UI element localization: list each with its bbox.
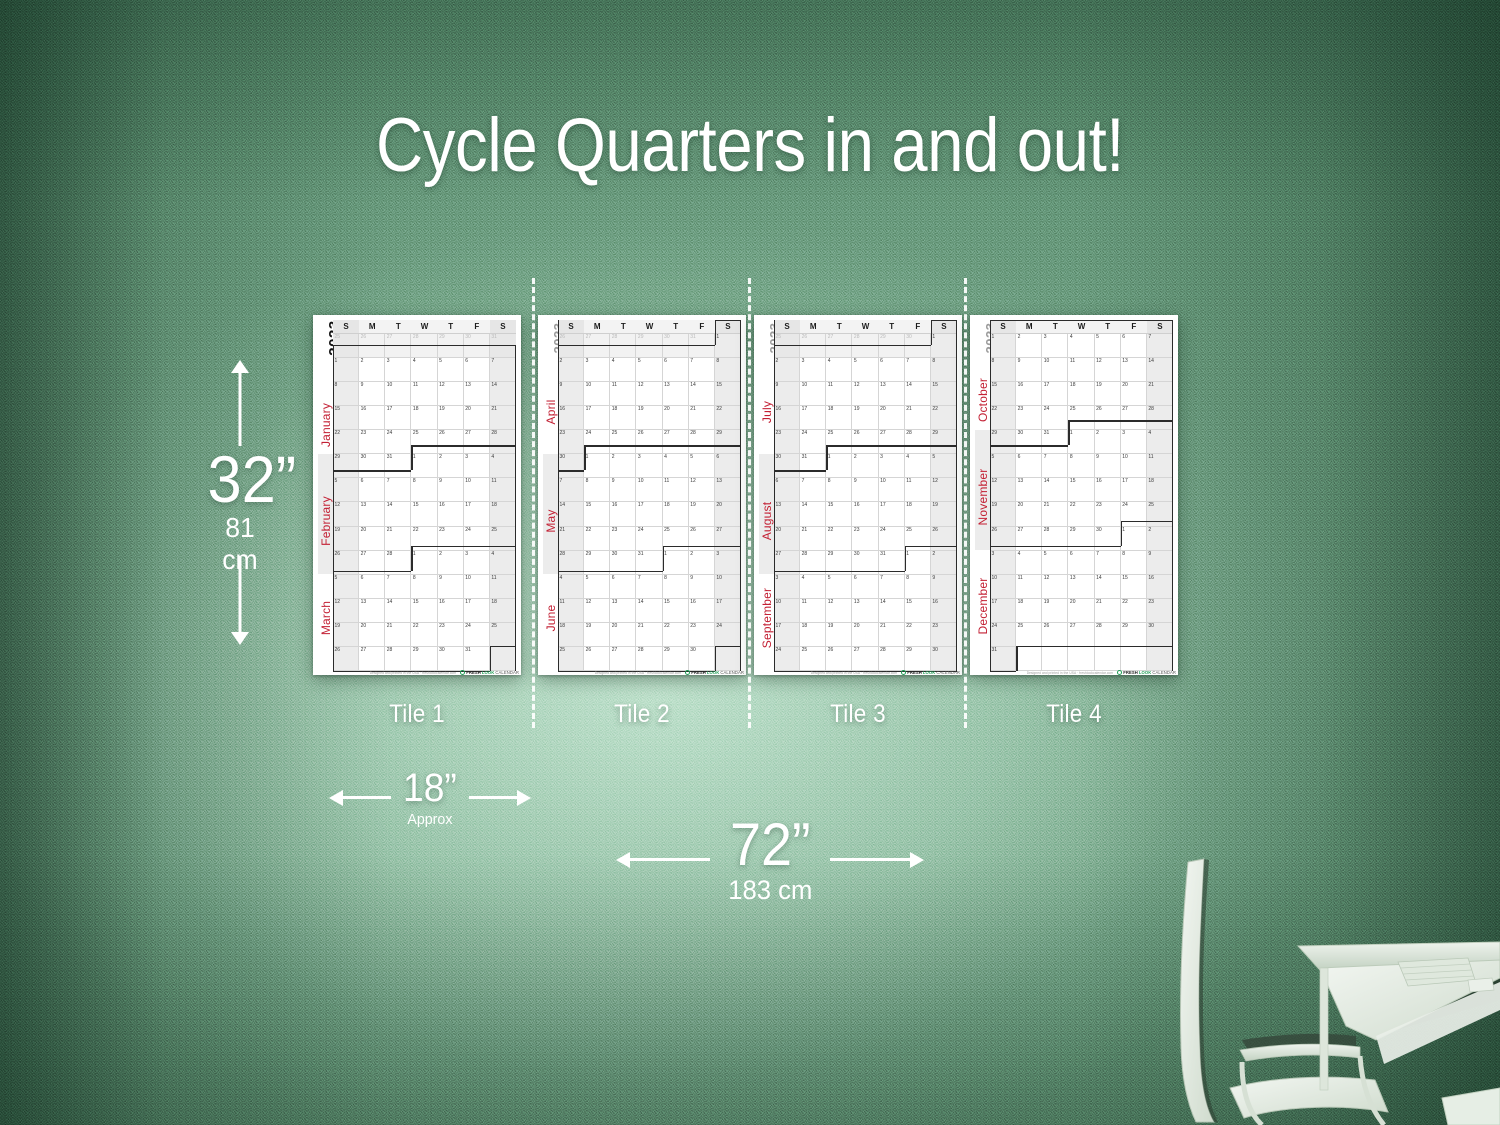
calendar-day-cell[interactable]: 13	[852, 599, 878, 623]
calendar-day-cell[interactable]: 14	[879, 599, 905, 623]
calendar-day-cell[interactable]: 11	[1068, 358, 1094, 382]
calendar-day-cell[interactable]: 16	[1095, 478, 1121, 502]
calendar-day-cell[interactable]: 19	[852, 406, 878, 430]
calendar-day-cell[interactable]: 29	[333, 454, 359, 478]
calendar-day-cell[interactable]: 8	[411, 575, 437, 599]
calendar-day-cell[interactable]: 4	[800, 575, 826, 599]
calendar-day-cell[interactable]: 25	[610, 430, 636, 454]
calendar-day-cell[interactable]: 22	[1121, 599, 1147, 623]
calendar-day-cell[interactable]: 2	[1016, 334, 1042, 358]
calendar-day-cell[interactable]: 13	[1016, 478, 1042, 502]
calendar-day-cell[interactable]: 18	[800, 623, 826, 647]
calendar-day-cell[interactable]: 23	[1016, 406, 1042, 430]
calendar-day-cell[interactable]: 23	[610, 527, 636, 551]
calendar-day-cell[interactable]: 20	[715, 502, 741, 526]
calendar-day-cell[interactable]: 2	[852, 454, 878, 478]
calendar-day-cell[interactable]	[1016, 647, 1042, 671]
calendar-day-cell[interactable]: 26	[852, 430, 878, 454]
calendar-tile[interactable]: 2023JulyAugustSeptemberSMTWTFS2526272829…	[754, 315, 962, 675]
calendar-day-cell[interactable]: 3	[1042, 334, 1068, 358]
calendar-day-cell[interactable]: 30	[689, 647, 715, 671]
calendar-day-cell[interactable]: 1	[411, 551, 437, 575]
calendar-day-cell[interactable]: 25	[774, 334, 800, 358]
calendar-day-cell[interactable]: 10	[774, 599, 800, 623]
calendar-day-cell[interactable]: 11	[1016, 575, 1042, 599]
calendar-day-cell[interactable]: 7	[558, 478, 584, 502]
calendar-day-cell[interactable]: 25	[800, 647, 826, 671]
calendar-day-cell[interactable]: 1	[333, 358, 359, 382]
calendar-day-cell[interactable]: 26	[333, 551, 359, 575]
calendar-day-cell[interactable]: 2	[610, 454, 636, 478]
calendar-day-cell[interactable]: 18	[490, 502, 516, 526]
calendar-day-cell[interactable]: 24	[464, 527, 490, 551]
calendar-day-cell[interactable]: 21	[385, 527, 411, 551]
calendar-day-cell[interactable]: 17	[1042, 382, 1068, 406]
calendar-day-cell[interactable]: 10	[584, 382, 610, 406]
calendar-day-cell[interactable]: 9	[558, 382, 584, 406]
calendar-day-cell[interactable]: 3	[800, 358, 826, 382]
calendar-day-cell[interactable]: 19	[689, 502, 715, 526]
calendar-day-cell[interactable]: 24	[385, 430, 411, 454]
calendar-day-cell[interactable]: 11	[905, 478, 931, 502]
calendar-day-cell[interactable]: 20	[1121, 382, 1147, 406]
calendar-day-cell[interactable]: 13	[774, 502, 800, 526]
calendar-day-cell[interactable]: 29	[879, 334, 905, 358]
calendar-day-cell[interactable]: 3	[464, 551, 490, 575]
calendar-day-cell[interactable]: 26	[826, 647, 852, 671]
calendar-day-cell[interactable]: 7	[1095, 551, 1121, 575]
calendar-day-cell[interactable]: 4	[558, 575, 584, 599]
calendar-day-cell[interactable]: 25	[490, 527, 516, 551]
calendar-day-cell[interactable]: 19	[333, 527, 359, 551]
calendar-day-cell[interactable]: 28	[490, 430, 516, 454]
calendar-day-cell[interactable]: 25	[1016, 623, 1042, 647]
calendar-day-cell[interactable]: 5	[333, 478, 359, 502]
calendar-day-cell[interactable]: 18	[490, 599, 516, 623]
calendar-day-cell[interactable]: 28	[636, 647, 662, 671]
calendar-day-cell[interactable]: 20	[1016, 502, 1042, 526]
calendar-day-cell[interactable]: 23	[438, 623, 464, 647]
calendar-day-cell[interactable]: 19	[636, 406, 662, 430]
calendar-day-cell[interactable]: 29	[411, 647, 437, 671]
calendar-day-cell[interactable]: 17	[464, 599, 490, 623]
calendar-day-cell[interactable]: 21	[689, 406, 715, 430]
calendar-day-cell[interactable]: 22	[411, 623, 437, 647]
calendar-tile[interactable]: 2023OctoberNovemberDecemberSMTWTFS123456…	[970, 315, 1178, 675]
calendar-day-cell[interactable]: 10	[464, 575, 490, 599]
calendar-day-cell[interactable]: 22	[1068, 502, 1094, 526]
calendar-day-cell[interactable]: 22	[826, 527, 852, 551]
calendar-day-cell[interactable]: 17	[800, 406, 826, 430]
calendar-day-cell[interactable]: 11	[558, 599, 584, 623]
calendar-day-cell[interactable]: 24	[1042, 406, 1068, 430]
calendar-day-cell[interactable]: 8	[826, 478, 852, 502]
calendar-day-cell[interactable]: 28	[905, 430, 931, 454]
calendar-day-cell[interactable]: 20	[879, 406, 905, 430]
calendar-day-cell[interactable]: 28	[385, 551, 411, 575]
calendar-day-cell[interactable]: 29	[715, 430, 741, 454]
calendar-day-cell[interactable]	[1068, 647, 1094, 671]
calendar-day-cell[interactable]: 27	[663, 430, 689, 454]
calendar-day-cell[interactable]: 30	[1147, 623, 1173, 647]
calendar-day-cell[interactable]: 16	[852, 502, 878, 526]
calendar-day-cell[interactable]: 9	[852, 478, 878, 502]
calendar-day-cell[interactable]: 6	[1121, 334, 1147, 358]
calendar-day-cell[interactable]: 13	[464, 382, 490, 406]
calendar-day-cell[interactable]: 29	[931, 430, 957, 454]
calendar-day-cell[interactable]: 9	[1095, 454, 1121, 478]
calendar-day-cell[interactable]: 11	[826, 382, 852, 406]
calendar-day-cell[interactable]: 15	[905, 599, 931, 623]
calendar-day-cell[interactable]: 22	[715, 406, 741, 430]
calendar-day-cell[interactable]: 12	[826, 599, 852, 623]
calendar-day-cell[interactable]: 7	[636, 575, 662, 599]
calendar-day-cell[interactable]: 30	[905, 334, 931, 358]
calendar-day-cell[interactable]: 7	[689, 358, 715, 382]
calendar-day-cell[interactable]: 4	[1016, 551, 1042, 575]
calendar-day-cell[interactable]: 31	[636, 551, 662, 575]
calendar-day-cell[interactable]: 23	[774, 430, 800, 454]
calendar-day-cell[interactable]: 22	[663, 623, 689, 647]
calendar-day-cell[interactable]: 27	[1016, 527, 1042, 551]
calendar-day-cell[interactable]: 13	[610, 599, 636, 623]
calendar-day-cell[interactable]: 1	[411, 454, 437, 478]
calendar-day-cell[interactable]: 17	[385, 406, 411, 430]
calendar-day-cell[interactable]: 21	[1095, 599, 1121, 623]
calendar-day-cell[interactable]: 26	[689, 527, 715, 551]
calendar-day-cell[interactable]: 8	[663, 575, 689, 599]
calendar-day-cell[interactable]: 5	[1042, 551, 1068, 575]
calendar-day-cell[interactable]: 30	[1016, 430, 1042, 454]
calendar-day-cell[interactable]: 8	[333, 382, 359, 406]
calendar-day-cell[interactable]: 22	[905, 623, 931, 647]
calendar-day-cell[interactable]: 28	[1147, 406, 1173, 430]
calendar-day-cell[interactable]: 10	[1042, 358, 1068, 382]
calendar-day-cell[interactable]: 22	[584, 527, 610, 551]
calendar-tile[interactable]: 2023AprilMayJuneSMTWTFS26272829303112345…	[538, 315, 746, 675]
calendar-day-cell[interactable]: 3	[990, 551, 1016, 575]
calendar-day-cell[interactable]: 18	[1147, 478, 1173, 502]
calendar-day-cell[interactable]: 30	[1095, 527, 1121, 551]
calendar-day-cell[interactable]: 21	[1042, 502, 1068, 526]
calendar-day-cell[interactable]: 17	[990, 599, 1016, 623]
calendar-day-cell[interactable]: 2	[931, 551, 957, 575]
calendar-day-cell[interactable]: 27	[852, 647, 878, 671]
calendar-day-cell[interactable]: 13	[359, 502, 385, 526]
calendar-day-cell[interactable]: 3	[774, 575, 800, 599]
calendar-day-cell[interactable]: 20	[359, 623, 385, 647]
calendar-day-cell[interactable]: 29	[584, 551, 610, 575]
calendar-day-cell[interactable]: 16	[438, 599, 464, 623]
calendar-day-cell[interactable]: 4	[905, 454, 931, 478]
calendar-day-cell[interactable]: 6	[359, 478, 385, 502]
calendar-day-cell[interactable]: 6	[1068, 551, 1094, 575]
calendar-day-cell[interactable]: 7	[1042, 454, 1068, 478]
calendar-day-cell[interactable]: 22	[333, 430, 359, 454]
calendar-day-cell[interactable]	[1121, 647, 1147, 671]
calendar-day-cell[interactable]: 21	[879, 623, 905, 647]
calendar-day-cell[interactable]: 15	[411, 599, 437, 623]
calendar-day-cell[interactable]: 1	[1068, 430, 1094, 454]
calendar-day-cell[interactable]: 16	[438, 502, 464, 526]
calendar-day-cell[interactable]: 1	[584, 454, 610, 478]
calendar-day-cell[interactable]: 25	[663, 527, 689, 551]
calendar-day-cell[interactable]: 6	[774, 478, 800, 502]
calendar-day-cell[interactable]: 23	[1147, 599, 1173, 623]
calendar-day-cell[interactable]: 24	[464, 623, 490, 647]
calendar-day-cell[interactable]: 28	[385, 647, 411, 671]
calendar-day-cell[interactable]: 1	[990, 334, 1016, 358]
calendar-day-cell[interactable]: 27	[359, 551, 385, 575]
calendar-day-cell[interactable]: 16	[359, 406, 385, 430]
calendar-day-cell[interactable]: 28	[800, 551, 826, 575]
calendar-day-cell[interactable]: 14	[490, 382, 516, 406]
calendar-day-cell[interactable]: 15	[584, 502, 610, 526]
calendar-day-cell[interactable]: 14	[558, 502, 584, 526]
calendar-day-cell[interactable]: 26	[438, 430, 464, 454]
calendar-day-cell[interactable]: 12	[584, 599, 610, 623]
calendar-day-cell[interactable]: 19	[931, 502, 957, 526]
calendar-day-cell[interactable]: 18	[826, 406, 852, 430]
calendar-day-cell[interactable]: 17	[636, 502, 662, 526]
calendar-day-cell[interactable]: 12	[990, 478, 1016, 502]
calendar-day-cell[interactable]: 2	[438, 551, 464, 575]
calendar-day-cell[interactable]: 23	[359, 430, 385, 454]
calendar-day-cell[interactable]: 25	[490, 623, 516, 647]
calendar-day-cell[interactable]: 17	[715, 599, 741, 623]
calendar-day-cell[interactable]: 13	[359, 599, 385, 623]
calendar-day-cell[interactable]: 1	[931, 334, 957, 358]
calendar-tile[interactable]: 2023JanuaryFebruaryMarchSMTWTFS252627282…	[313, 315, 521, 675]
calendar-day-cell[interactable]: 15	[990, 382, 1016, 406]
calendar-day-cell[interactable]: 10	[464, 478, 490, 502]
calendar-day-cell[interactable]: 28	[558, 551, 584, 575]
calendar-day-cell[interactable]: 28	[689, 430, 715, 454]
calendar-day-cell[interactable]: 20	[359, 527, 385, 551]
calendar-day-cell[interactable]: 6	[879, 358, 905, 382]
calendar-day-cell[interactable]: 14	[1147, 358, 1173, 382]
calendar-day-cell[interactable]: 21	[636, 623, 662, 647]
calendar-day-cell[interactable]: 7	[800, 478, 826, 502]
calendar-day-cell[interactable]: 2	[1095, 430, 1121, 454]
calendar-day-cell[interactable]: 28	[610, 334, 636, 358]
calendar-day-cell[interactable]: 29	[663, 647, 689, 671]
calendar-day-cell[interactable]: 24	[990, 623, 1016, 647]
calendar-day-cell[interactable]: 22	[411, 527, 437, 551]
calendar-day-cell[interactable]: 30	[558, 454, 584, 478]
calendar-day-cell[interactable]: 14	[905, 382, 931, 406]
calendar-day-cell[interactable]: 27	[610, 647, 636, 671]
calendar-day-cell[interactable]: 2	[1147, 527, 1173, 551]
calendar-day-cell[interactable]: 19	[438, 406, 464, 430]
calendar-day-cell[interactable]: 27	[715, 527, 741, 551]
calendar-day-cell[interactable]: 16	[1016, 382, 1042, 406]
calendar-day-cell[interactable]: 11	[800, 599, 826, 623]
calendar-day-cell[interactable]: 11	[1147, 454, 1173, 478]
calendar-day-cell[interactable]: 4	[1147, 430, 1173, 454]
calendar-day-cell[interactable]: 7	[905, 358, 931, 382]
calendar-day-cell[interactable]: 25	[1147, 502, 1173, 526]
calendar-day-cell[interactable]: 17	[879, 502, 905, 526]
calendar-day-cell[interactable]: 22	[990, 406, 1016, 430]
calendar-day-cell[interactable]: 23	[931, 623, 957, 647]
calendar-day-cell[interactable]: 29	[1068, 527, 1094, 551]
calendar-day-cell[interactable]: 18	[411, 406, 437, 430]
calendar-day-cell[interactable]: 17	[584, 406, 610, 430]
calendar-day-cell[interactable]: 16	[931, 599, 957, 623]
calendar-day-cell[interactable]: 5	[438, 358, 464, 382]
calendar-day-cell[interactable]: 31	[1042, 430, 1068, 454]
calendar-day-cell[interactable]: 21	[1147, 382, 1173, 406]
calendar-day-cell[interactable]: 9	[774, 382, 800, 406]
calendar-day-cell[interactable]: 28	[852, 334, 878, 358]
calendar-day-cell[interactable]: 5	[990, 454, 1016, 478]
calendar-day-cell[interactable]: 29	[990, 430, 1016, 454]
calendar-day-cell[interactable]: 17	[1121, 478, 1147, 502]
calendar-day-cell[interactable]: 9	[610, 478, 636, 502]
calendar-day-cell[interactable]: 12	[333, 502, 359, 526]
calendar-day-cell[interactable]: 25	[411, 430, 437, 454]
calendar-day-cell[interactable]: 26	[584, 647, 610, 671]
calendar-day-cell[interactable]: 12	[438, 382, 464, 406]
calendar-day-cell[interactable]: 7	[879, 575, 905, 599]
calendar-day-cell[interactable]: 25	[905, 527, 931, 551]
calendar-day-cell[interactable]: 27	[385, 334, 411, 358]
calendar-day-cell[interactable]: 31	[385, 454, 411, 478]
calendar-day-cell[interactable]: 29	[636, 334, 662, 358]
calendar-day-cell[interactable]: 30	[774, 454, 800, 478]
calendar-day-cell[interactable]: 26	[333, 647, 359, 671]
calendar-day-cell[interactable]	[715, 647, 741, 671]
calendar-day-cell[interactable]: 15	[715, 382, 741, 406]
calendar-day-cell[interactable]: 30	[610, 551, 636, 575]
calendar-day-cell[interactable]: 11	[663, 478, 689, 502]
calendar-day-cell[interactable]: 14	[689, 382, 715, 406]
calendar-day-cell[interactable]: 13	[1121, 358, 1147, 382]
calendar-day-cell[interactable]: 3	[584, 358, 610, 382]
calendar-day-cell[interactable]: 20	[852, 623, 878, 647]
calendar-day-cell[interactable]: 9	[689, 575, 715, 599]
calendar-day-cell[interactable]: 29	[905, 647, 931, 671]
calendar-day-cell[interactable]: 26	[558, 334, 584, 358]
calendar-day-cell[interactable]: 29	[1121, 623, 1147, 647]
calendar-day-cell[interactable]: 16	[610, 502, 636, 526]
calendar-day-cell[interactable]: 23	[438, 527, 464, 551]
calendar-day-cell[interactable]: 28	[1042, 527, 1068, 551]
calendar-day-cell[interactable]: 31	[879, 551, 905, 575]
calendar-day-cell[interactable]: 12	[931, 478, 957, 502]
calendar-day-cell[interactable]: 15	[411, 502, 437, 526]
calendar-day-cell[interactable]: 8	[931, 358, 957, 382]
calendar-day-cell[interactable]: 4	[411, 358, 437, 382]
calendar-day-cell[interactable]: 24	[879, 527, 905, 551]
calendar-day-cell[interactable]: 6	[663, 358, 689, 382]
calendar-day-cell[interactable]: 9	[931, 575, 957, 599]
calendar-day-cell[interactable]: 4	[663, 454, 689, 478]
calendar-day-cell[interactable]: 7	[490, 358, 516, 382]
calendar-day-cell[interactable]: 21	[385, 623, 411, 647]
calendar-day-cell[interactable]: 20	[464, 406, 490, 430]
calendar-day-cell[interactable]: 6	[715, 454, 741, 478]
calendar-day-cell[interactable]: 13	[879, 382, 905, 406]
calendar-day-cell[interactable]: 19	[333, 623, 359, 647]
calendar-day-cell[interactable]: 13	[1068, 575, 1094, 599]
calendar-day-cell[interactable]: 11	[610, 382, 636, 406]
calendar-day-cell[interactable]: 14	[636, 599, 662, 623]
calendar-day-cell[interactable]: 12	[333, 599, 359, 623]
calendar-day-cell[interactable]: 17	[464, 502, 490, 526]
calendar-day-cell[interactable]: 28	[879, 647, 905, 671]
calendar-day-cell[interactable]: 14	[1095, 575, 1121, 599]
calendar-day-cell[interactable]: 29	[826, 551, 852, 575]
calendar-day-cell[interactable]: 27	[879, 430, 905, 454]
calendar-day-cell[interactable]: 12	[852, 382, 878, 406]
calendar-day-cell[interactable]: 27	[1121, 406, 1147, 430]
calendar-day-cell[interactable]: 12	[1095, 358, 1121, 382]
calendar-day-cell[interactable]: 15	[1121, 575, 1147, 599]
calendar-day-cell[interactable]: 26	[1042, 623, 1068, 647]
calendar-day-cell[interactable]: 15	[663, 599, 689, 623]
calendar-day-cell[interactable]: 2	[774, 358, 800, 382]
calendar-day-cell[interactable]: 9	[1016, 358, 1042, 382]
calendar-day-cell[interactable]: 6	[610, 575, 636, 599]
calendar-day-cell[interactable]: 4	[1068, 334, 1094, 358]
calendar-day-cell[interactable]: 6	[464, 358, 490, 382]
calendar-day-cell[interactable]: 3	[464, 454, 490, 478]
calendar-day-cell[interactable]: 27	[359, 647, 385, 671]
calendar-day-cell[interactable]: 18	[1016, 599, 1042, 623]
calendar-day-cell[interactable]: 30	[663, 334, 689, 358]
calendar-day-cell[interactable]: 26	[359, 334, 385, 358]
calendar-day-cell[interactable]	[1147, 647, 1173, 671]
calendar-day-cell[interactable]: 8	[584, 478, 610, 502]
calendar-day-cell[interactable]: 27	[464, 430, 490, 454]
calendar-day-cell[interactable]: 6	[1016, 454, 1042, 478]
calendar-day-cell[interactable]: 21	[905, 406, 931, 430]
calendar-day-cell[interactable]: 25	[333, 334, 359, 358]
calendar-day-cell[interactable]: 24	[584, 430, 610, 454]
calendar-day-cell[interactable]: 29	[438, 334, 464, 358]
calendar-day-cell[interactable]: 8	[715, 358, 741, 382]
calendar-day-cell[interactable]: 5	[689, 454, 715, 478]
calendar-day-cell[interactable]: 31	[464, 647, 490, 671]
calendar-day-cell[interactable]: 26	[990, 527, 1016, 551]
calendar-day-cell[interactable]: 3	[715, 551, 741, 575]
calendar-day-cell[interactable]: 19	[990, 502, 1016, 526]
calendar-day-cell[interactable]: 10	[990, 575, 1016, 599]
calendar-day-cell[interactable]: 9	[438, 478, 464, 502]
calendar-day-cell[interactable]: 27	[774, 551, 800, 575]
calendar-day-cell[interactable]: 10	[636, 478, 662, 502]
calendar-day-cell[interactable]: 18	[610, 406, 636, 430]
calendar-day-cell[interactable]: 12	[636, 382, 662, 406]
calendar-day-cell[interactable]: 9	[359, 382, 385, 406]
calendar-day-cell[interactable]: 26	[1095, 406, 1121, 430]
calendar-day-cell[interactable]: 25	[826, 430, 852, 454]
calendar-day-cell[interactable]: 14	[800, 502, 826, 526]
calendar-day-cell[interactable]: 23	[1095, 502, 1121, 526]
calendar-day-cell[interactable]: 10	[1121, 454, 1147, 478]
calendar-day-cell[interactable]: 15	[931, 382, 957, 406]
calendar-day-cell[interactable]: 4	[826, 358, 852, 382]
calendar-day-cell[interactable]: 26	[800, 334, 826, 358]
calendar-day-cell[interactable]: 30	[464, 334, 490, 358]
calendar-day-cell[interactable]	[1095, 647, 1121, 671]
calendar-day-cell[interactable]: 19	[826, 623, 852, 647]
calendar-day-cell[interactable]: 10	[879, 478, 905, 502]
calendar-day-cell[interactable]: 16	[558, 406, 584, 430]
calendar-day-cell[interactable]: 14	[385, 502, 411, 526]
